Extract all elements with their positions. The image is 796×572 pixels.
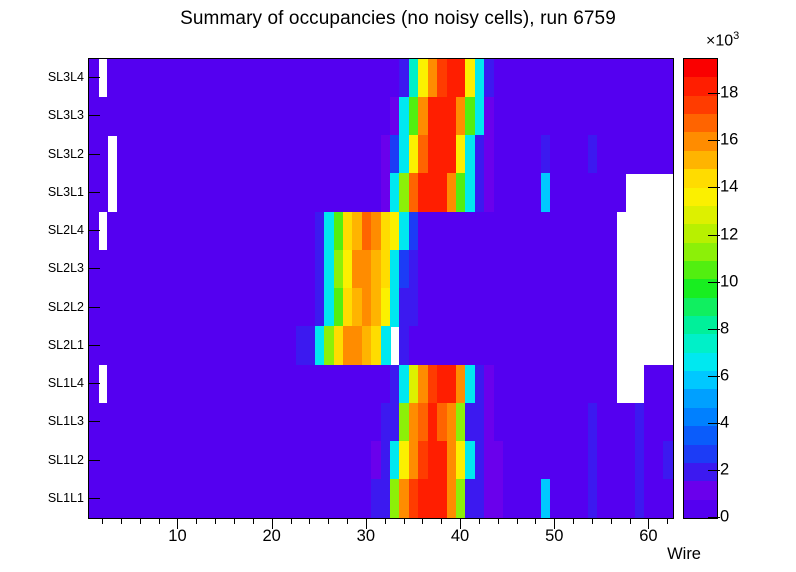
colorbar-tick-label-18: 18 (720, 84, 738, 103)
colorbar-tick-label-14: 14 (720, 178, 738, 197)
colorbar-ticks (684, 58, 720, 517)
colorbar-tick-labels: 024681012141618 (720, 58, 790, 517)
y-axis-tick (89, 345, 100, 346)
colorbar-exponent: ×103 (706, 30, 739, 50)
heatmap-cell (616, 173, 626, 212)
colorbar-tick (708, 187, 720, 188)
x-axis-tick (422, 518, 423, 524)
x-axis-tick (385, 518, 386, 524)
colorbar-tick-label-2: 2 (720, 460, 729, 479)
x-axis-tick-label-10: 10 (168, 527, 186, 546)
heatmap-cell (607, 250, 617, 289)
x-axis-tick (309, 518, 310, 524)
y-axis-tick (89, 115, 100, 116)
heatmap-cell-grid (89, 59, 673, 518)
y-axis-label-sl2l3: SL2L3 (48, 261, 84, 275)
x-axis-tick (535, 518, 536, 524)
colorbar-tick (708, 329, 720, 330)
colorbar-tick-label-16: 16 (720, 131, 738, 150)
colorbar-tick-label-8: 8 (720, 319, 729, 338)
y-axis-label-sl1l2: SL1L2 (48, 453, 84, 467)
y-axis-label-sl1l4: SL1L4 (48, 376, 84, 390)
x-axis-tick (347, 518, 348, 524)
heatmap-cell (663, 365, 673, 404)
y-axis-label-sl2l1: SL2L1 (48, 338, 84, 352)
heatmap-cell (607, 365, 617, 404)
x-axis-tick (667, 518, 668, 524)
x-axis-tick (140, 518, 141, 524)
colorbar-tick (708, 140, 720, 141)
x-axis-tick-label-30: 30 (357, 527, 375, 546)
y-axis-tick (89, 498, 100, 499)
heatmap-cell (381, 326, 391, 365)
colorbar-tick (708, 282, 720, 283)
colorbar-tick-label-4: 4 (720, 413, 729, 432)
heatmap-cell (663, 59, 673, 98)
x-axis-tick (253, 518, 254, 524)
x-axis-tick (441, 518, 442, 524)
y-axis-tick (89, 307, 100, 308)
heatmap-cell (607, 212, 617, 251)
x-axis-tick (630, 518, 631, 524)
y-axis-tick (89, 268, 100, 269)
y-axis-tick (89, 421, 100, 422)
colorbar-tick (708, 423, 720, 424)
y-axis-label-sl3l2: SL3L2 (48, 147, 84, 161)
x-axis-tick-label-60: 60 (639, 527, 657, 546)
y-axis-labels: SL3L4SL3L3SL3L2SL3L1SL2L4SL2L3SL2L2SL2L1… (0, 58, 84, 517)
x-axis-tick (291, 518, 292, 524)
y-axis-tick (89, 192, 100, 193)
colorbar-tick-label-0: 0 (720, 508, 729, 527)
y-axis-tick (89, 230, 100, 231)
y-axis-ticks (89, 58, 101, 517)
colorbar-tick-label-6: 6 (720, 366, 729, 385)
x-axis-tick-labels: 102030405060 (0, 527, 796, 547)
heatmap-cell (663, 97, 673, 136)
x-axis-tick (592, 518, 593, 524)
colorbar-tick (708, 235, 720, 236)
heatmap-cell (663, 479, 673, 518)
x-axis-tick (234, 518, 235, 524)
colorbar-exponent-base: ×10 (706, 32, 733, 49)
root-canvas: Summary of occupancies (no noisy cells),… (0, 0, 796, 572)
heatmap-cell (607, 288, 617, 327)
y-axis-label-sl3l4: SL3L4 (48, 70, 84, 84)
colorbar-tick (708, 517, 720, 518)
y-axis-tick (89, 77, 100, 78)
x-axis-tick (611, 518, 612, 524)
colorbar-tick (708, 470, 720, 471)
x-axis-tick (102, 518, 103, 524)
x-axis-tick-label-50: 50 (545, 527, 563, 546)
colorbar-exponent-power: 3 (733, 30, 739, 42)
y-axis-tick (89, 383, 100, 384)
heatmap-plot-frame (88, 58, 674, 519)
x-axis-tick (404, 518, 405, 524)
y-axis-label-sl3l1: SL3L1 (48, 185, 84, 199)
x-axis-tick (517, 518, 518, 524)
x-axis-tick-label-20: 20 (262, 527, 280, 546)
colorbar-tick (708, 93, 720, 94)
y-axis-label-sl2l2: SL2L2 (48, 300, 84, 314)
heatmap-cell (663, 403, 673, 442)
y-axis-tick (89, 154, 100, 155)
x-axis-tick (121, 518, 122, 524)
x-axis-tick-label-40: 40 (451, 527, 469, 546)
colorbar-tick-label-10: 10 (720, 272, 738, 291)
heatmap-cell (663, 441, 673, 480)
heatmap-cell (607, 326, 617, 365)
x-axis-tick (159, 518, 160, 524)
x-axis-title: Wire (667, 545, 701, 564)
x-axis-tick (196, 518, 197, 524)
y-axis-label-sl3l3: SL3L3 (48, 108, 84, 122)
x-axis-tick (479, 518, 480, 524)
x-axis-tick (573, 518, 574, 524)
heatmap-cell (663, 135, 673, 174)
y-axis-label-sl2l4: SL2L4 (48, 223, 84, 237)
x-axis-tick (215, 518, 216, 524)
x-axis-tick (498, 518, 499, 524)
y-axis-tick (89, 460, 100, 461)
colorbar-tick (708, 376, 720, 377)
y-axis-label-sl1l3: SL1L3 (48, 414, 84, 428)
colorbar-tick-label-12: 12 (720, 225, 738, 244)
page-title: Summary of occupancies (no noisy cells),… (0, 8, 796, 30)
x-axis-tick (328, 518, 329, 524)
y-axis-label-sl1l1: SL1L1 (48, 491, 84, 505)
